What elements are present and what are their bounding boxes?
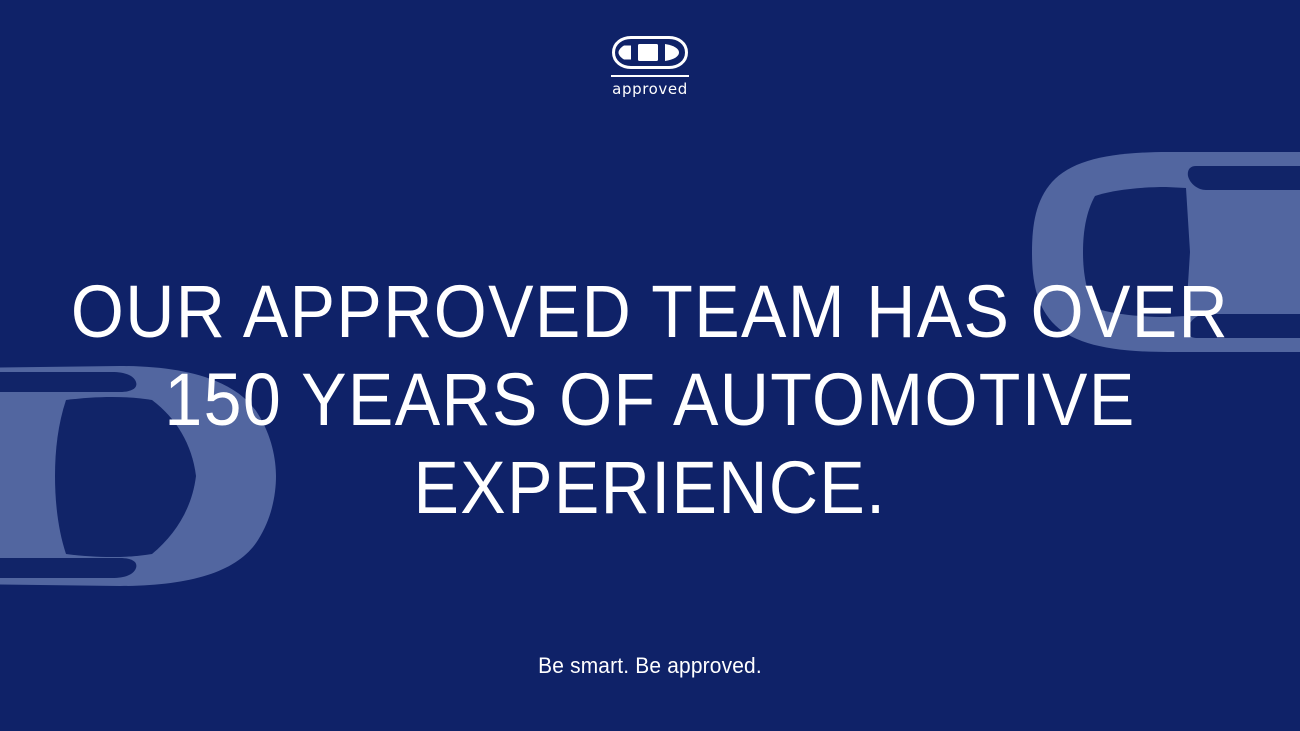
logo-divider	[611, 75, 689, 77]
logo-wordmark: approved	[570, 81, 730, 98]
brand-logo: approved	[570, 36, 730, 98]
headline-line-3: EXPERIENCE.	[52, 444, 1248, 532]
car-top-view-icon	[612, 36, 688, 69]
headline-line-1: OUR APPROVED TEAM HAS OVER	[52, 268, 1248, 356]
headline-line-2: 150 YEARS OF AUTOMOTIVE	[52, 356, 1248, 444]
headline: OUR APPROVED TEAM HAS OVER 150 YEARS OF …	[0, 268, 1300, 532]
tagline: Be smart. Be approved.	[33, 653, 1268, 679]
promo-slide: approved OUR APPROVED TEAM HAS OVER 150 …	[0, 0, 1300, 731]
